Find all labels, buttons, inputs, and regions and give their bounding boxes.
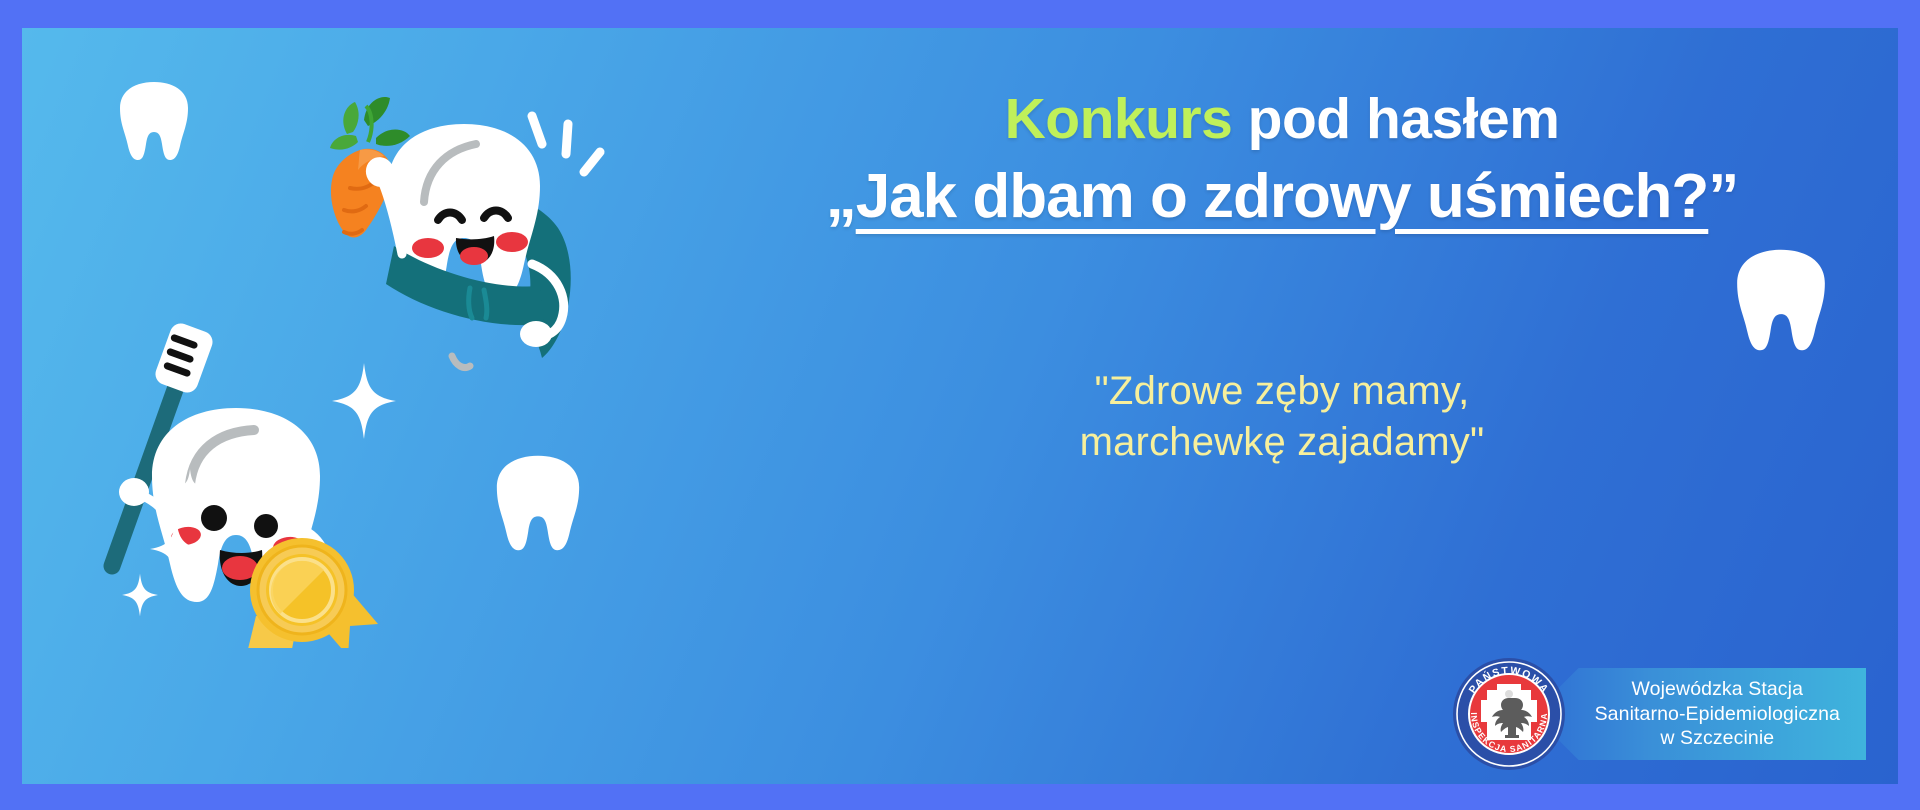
sparkle-icon: [332, 363, 396, 439]
floating-tooth-icon: [116, 80, 192, 162]
headline-line-1-rest: pod hasłem: [1232, 87, 1559, 151]
headline-accent-word: Konkurs: [1005, 87, 1233, 151]
org-name-line-1: Wojewódzka Stacja: [1595, 677, 1840, 702]
headline-line-2: „Jak dbam o zdrowy uśmiech?”: [757, 162, 1807, 231]
slogan-line-2: marchewkę zajadamy": [757, 417, 1807, 468]
organization-logo: PAŃSTWOWA INSPEKCJA SANITARNA Wojewódzka…: [1451, 654, 1866, 774]
slogan-block: "Zdrowe zęby mamy, marchewkę zajadamy": [757, 366, 1807, 468]
org-name-line-2: Sanitarno-Epidemiologiczna: [1595, 702, 1840, 727]
org-name-line-3: w Szczecinie: [1595, 726, 1840, 751]
floating-tooth-icon: [492, 453, 584, 553]
quote-open: „: [826, 162, 856, 231]
headline-line-1: Konkurs pod hasłem: [757, 88, 1807, 152]
slogan-line-1: "Zdrowe zęby mamy,: [757, 366, 1807, 417]
sparkle-icon: [150, 518, 202, 580]
sanitary-inspection-seal-icon: PAŃSTWOWA INSPEKCJA SANITARNA: [1451, 656, 1567, 772]
text-column: Konkurs pod hasłem „Jak dbam o zdrowy uś…: [757, 88, 1807, 469]
poster-panel: Konkurs pod hasłem „Jak dbam o zdrowy uś…: [22, 28, 1898, 784]
headline-contest-title: Jak dbam o zdrowy uśmiech?: [856, 162, 1709, 231]
quote-close: ”: [1708, 162, 1738, 231]
carrot-leaf-icon: [330, 97, 410, 150]
organization-name-text: Wojewódzka Stacja Sanitarno-Epidemiologi…: [1595, 677, 1840, 752]
sparkle-icon: [174, 468, 206, 508]
poster-frame: Konkurs pod hasłem „Jak dbam o zdrowy uś…: [0, 0, 1920, 810]
sparkle-icon: [122, 573, 158, 617]
action-lines-icon: [532, 116, 600, 172]
organization-name-plate: Wojewódzka Stacja Sanitarno-Epidemiologi…: [1533, 668, 1866, 760]
